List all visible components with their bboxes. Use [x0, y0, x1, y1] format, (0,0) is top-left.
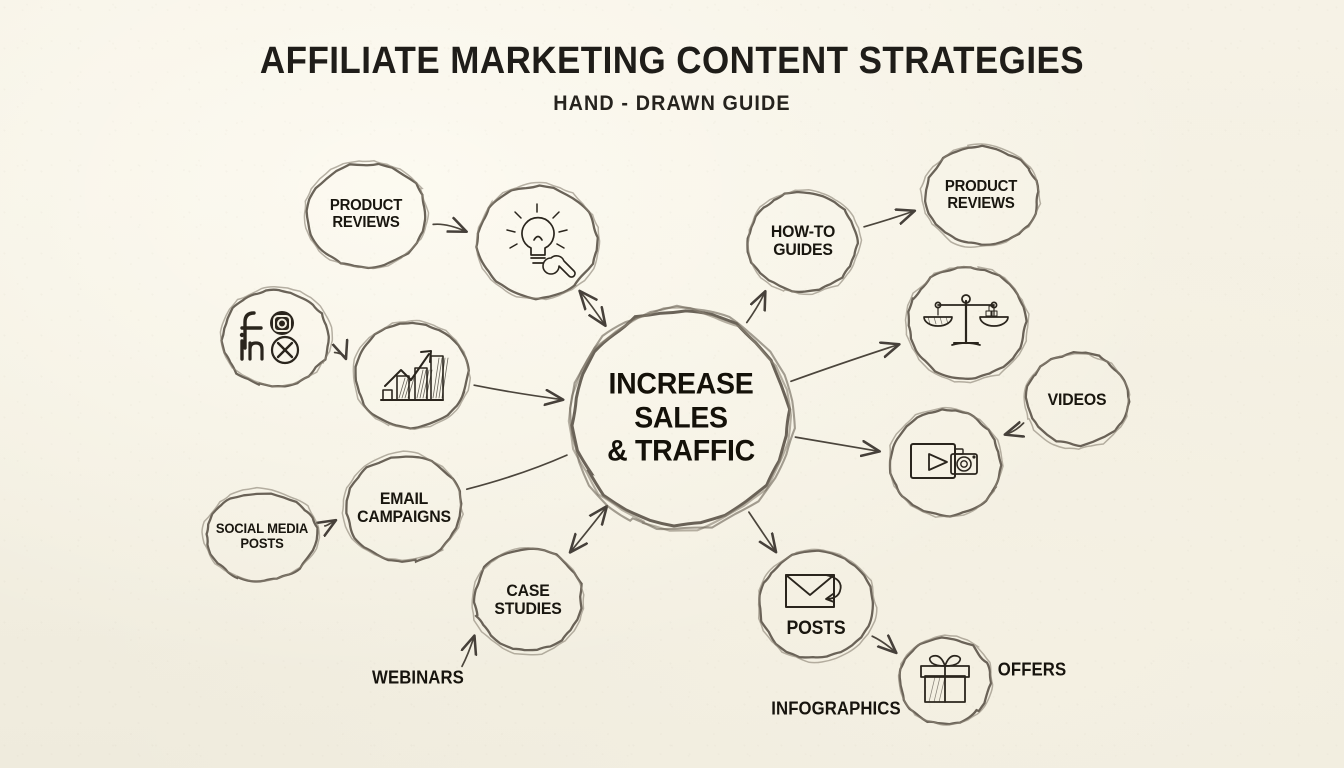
edge-center-to-how-to-guides [747, 292, 765, 323]
edge-center-to-comparison-scale [791, 345, 899, 382]
float-label-offers[interactable]: OFFERS [998, 660, 1066, 681]
float-label-infographics[interactable]: INFOGRAPHICS [771, 699, 900, 720]
node-product-reviews-left[interactable] [306, 163, 426, 267]
node-product-reviews-right[interactable] [924, 147, 1038, 245]
mindmap-canvas: AFFILIATE MARKETING CONTENT STRATEGIES H… [0, 0, 1344, 768]
edge-social-media-posts-to-email-campaigns [325, 521, 336, 526]
edge-posts-to-offers-gift [872, 636, 896, 652]
node-comparison-scale[interactable] [907, 267, 1025, 379]
edge-product-reviews-left-to-idea-tools [433, 224, 466, 231]
node-videos[interactable] [1026, 354, 1128, 446]
node-growth-chart[interactable] [355, 324, 467, 428]
edge-center-to-posts [749, 512, 776, 551]
edge-webinars-to-case-studies [462, 636, 474, 666]
edge-email-campaigns-to-center [467, 455, 567, 489]
edge-center-to-case-studies [571, 507, 607, 552]
node-social-icons[interactable] [223, 289, 329, 385]
node-video-media[interactable] [890, 409, 1000, 515]
node-center-increase-sales-traffic[interactable] [573, 310, 789, 526]
node-offers-gift[interactable] [900, 637, 990, 723]
edge-growth-chart-to-center [474, 385, 562, 399]
node-idea-tools[interactable] [477, 186, 597, 298]
node-posts[interactable] [759, 551, 873, 659]
edge-idea-tools-to-center [580, 292, 605, 326]
edge-videos-to-video-media [1006, 423, 1024, 434]
node-social-media-posts[interactable] [206, 492, 318, 580]
node-case-studies[interactable] [474, 549, 582, 651]
node-how-to-guides[interactable] [748, 191, 858, 291]
node-email-campaigns[interactable] [346, 455, 462, 561]
edge-social-icons-to-growth-chart [335, 353, 346, 359]
float-label-webinars[interactable]: WEBINARS [372, 668, 464, 689]
edge-how-to-guides-to-product-reviews-right [864, 211, 914, 227]
edge-center-to-video-media [795, 437, 879, 451]
